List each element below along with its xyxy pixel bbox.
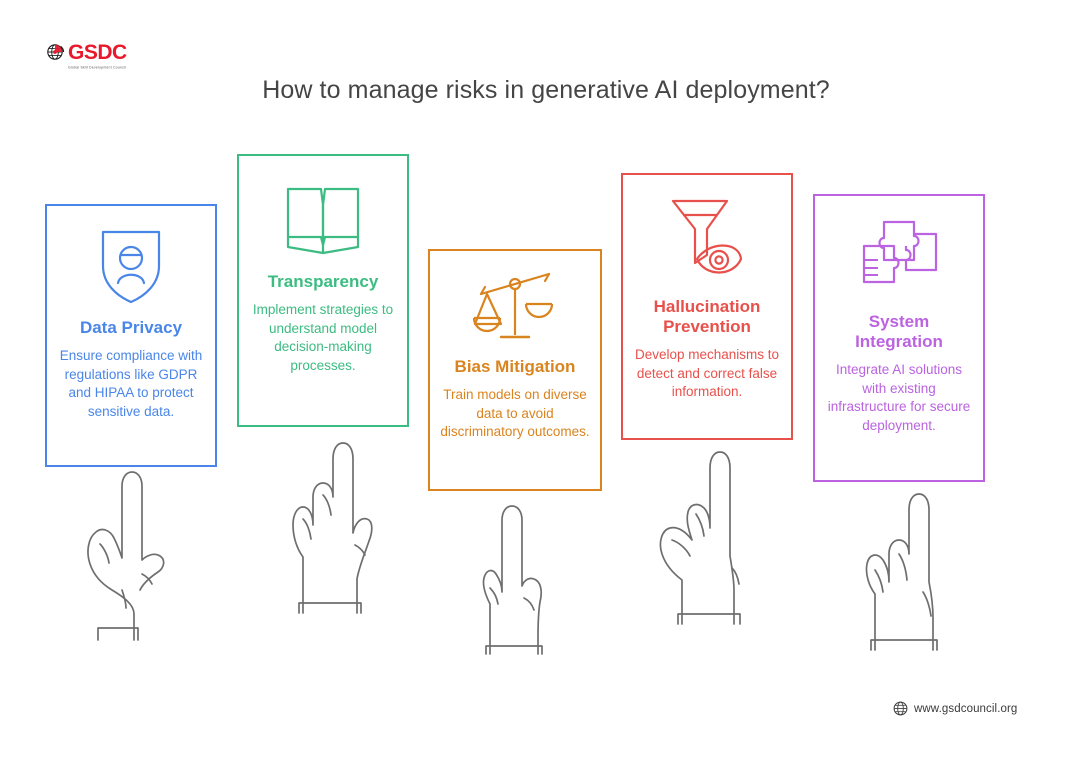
card-data-privacy: Data Privacy Ensure compliance with regu…: [45, 204, 217, 467]
logo-wordmark: GSDC: [68, 42, 127, 63]
pointing-hand-icon: [281, 437, 379, 622]
card-description: Ensure compliance with regulations like …: [57, 347, 205, 421]
card-system-integration: System Integration Integrate AI solution…: [813, 194, 985, 482]
globe-target-icon: [46, 42, 66, 67]
card-title: Transparency: [268, 272, 379, 292]
card-transparency: Transparency Implement strategies to und…: [237, 154, 409, 427]
pointing-hand-icon: [648, 450, 754, 633]
shield-person-icon: [93, 220, 169, 312]
card-bias-mitigation: Bias Mitigation Train models on diverse …: [428, 249, 602, 491]
card-description: Integrate AI solutions with existing inf…: [825, 361, 973, 435]
website-url: www.gsdcouncil.org: [914, 703, 1017, 715]
puzzle-pieces-icon: [856, 210, 942, 306]
gsdc-logo: GSDC Global Skill Development Council: [46, 42, 127, 69]
pointing-hand-icon: [76, 464, 172, 649]
footer: www.gsdcouncil.org: [893, 701, 1017, 716]
card-description: Implement strategies to understand model…: [249, 301, 397, 375]
card-hallucination-prevention: Hallucination Prevention Develop mechani…: [621, 173, 793, 440]
card-description: Train models on diverse data to avoid di…: [440, 386, 590, 442]
card-description: Develop mechanisms to detect and correct…: [633, 346, 781, 402]
page-title: How to manage risks in generative AI dep…: [0, 76, 1092, 105]
balance-scale-icon: [471, 265, 559, 351]
pointing-hand-icon: [853, 490, 947, 659]
card-title: System Integration: [825, 312, 973, 352]
globe-icon: [893, 701, 908, 716]
card-title: Bias Mitigation: [455, 357, 576, 377]
card-title: Data Privacy: [80, 318, 182, 338]
card-title: Hallucination Prevention: [633, 297, 781, 337]
pointing-hand-icon: [470, 502, 562, 663]
open-book-icon: [282, 170, 364, 266]
funnel-eye-icon: [665, 189, 749, 285]
logo-tagline: Global Skill Development Council: [68, 65, 127, 70]
